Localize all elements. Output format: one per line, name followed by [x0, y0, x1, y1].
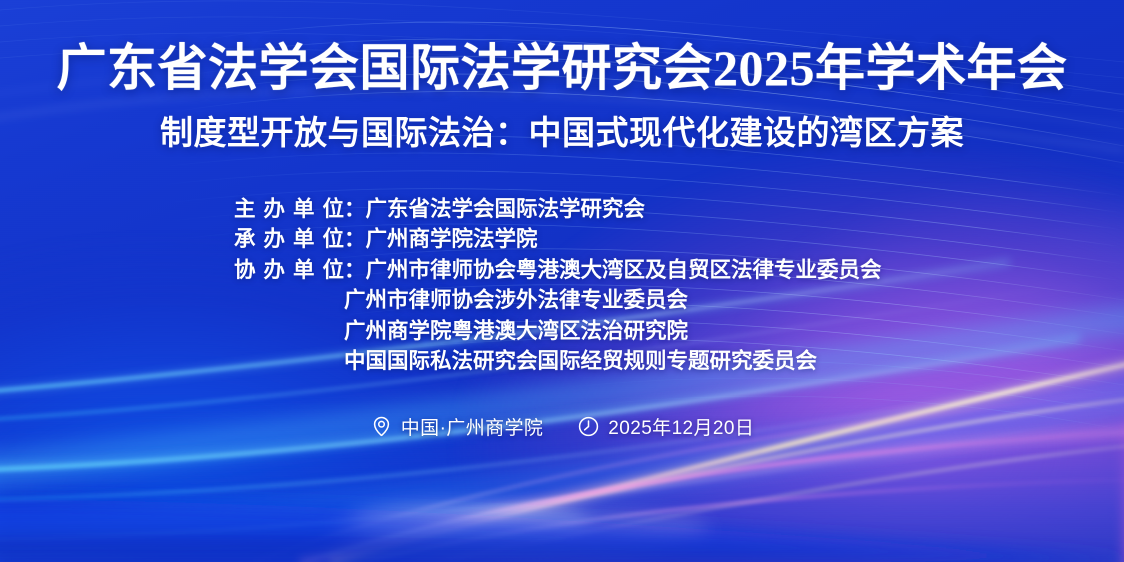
organizer-row: 广州市律师协会涉外法律专业委员会: [234, 285, 688, 316]
organizer-indent: [234, 285, 344, 316]
organizer-value: 广州市律师协会涉外法律专业委员会: [344, 285, 688, 316]
organizer-value: 广州商学院法学院: [366, 224, 538, 255]
poster-content: 广东省法学会国际法学研究会2025年学术年会 制度型开放与国际法治：中国式现代化…: [0, 0, 1124, 562]
organizer-row: 广州商学院粤港澳大湾区法治研究院: [234, 316, 688, 347]
footer-location-text: 中国·广州商学院: [401, 413, 544, 440]
organizer-indent: [234, 316, 344, 347]
organizer-row: 主办单位 ： 广东省法学会国际法学研究会: [234, 194, 645, 225]
organizer-colon: ：: [344, 255, 366, 286]
organizer-row: 协办单位 ： 广州市律师协会粤港澳大湾区及自贸区法律专业委员会: [234, 255, 882, 286]
organizer-value: 中国国际私法研究会国际经贸规则专题研究委员会: [344, 346, 817, 377]
clock-icon: [577, 415, 600, 438]
organizer-value: 广东省法学会国际法学研究会: [366, 194, 646, 225]
organizer-row: 中国国际私法研究会国际经贸规则专题研究委员会: [234, 346, 817, 377]
footer-location: 中国·广州商学院: [370, 413, 544, 440]
organizer-value: 广州商学院粤港澳大湾区法治研究院: [344, 316, 688, 347]
poster-footer: 中国·广州商学院 2025年12月20日: [370, 413, 754, 440]
organizer-colon: ：: [344, 194, 366, 225]
footer-date: 2025年12月20日: [577, 413, 754, 440]
organizer-indent: [234, 346, 344, 377]
conference-poster: 广东省法学会国际法学研究会2025年学术年会 制度型开放与国际法治：中国式现代化…: [0, 0, 1124, 562]
location-pin-icon: [370, 415, 393, 438]
page-title: 广东省法学会国际法学研究会2025年学术年会: [57, 40, 1068, 96]
organizer-list: 主办单位 ： 广东省法学会国际法学研究会 承办单位 ： 广州商学院法学院 协办单…: [234, 194, 890, 377]
footer-date-text: 2025年12月20日: [608, 413, 754, 440]
organizer-colon: ：: [344, 224, 366, 255]
organizer-row: 承办单位 ： 广州商学院法学院: [234, 224, 538, 255]
page-subtitle: 制度型开放与国际法治：中国式现代化建设的湾区方案: [160, 115, 964, 155]
organizer-label: 协办单位: [234, 255, 344, 286]
organizer-value: 广州市律师协会粤港澳大湾区及自贸区法律专业委员会: [366, 255, 882, 286]
organizer-label: 承办单位: [234, 224, 344, 255]
organizer-label: 主办单位: [234, 194, 344, 225]
